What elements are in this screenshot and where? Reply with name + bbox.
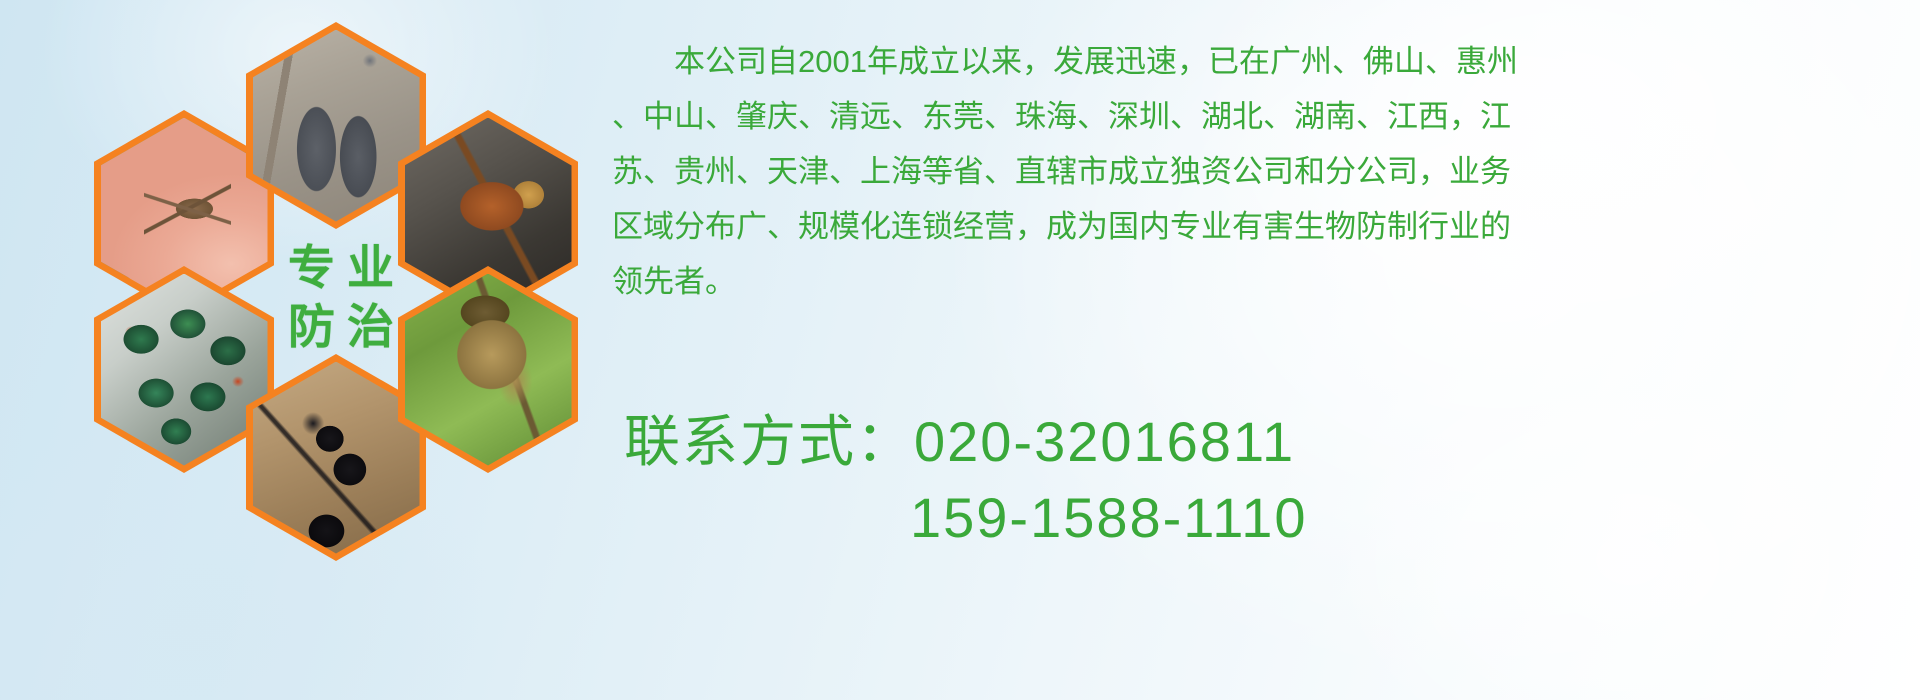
rats-photo — [253, 30, 420, 222]
brand-line-secondary: 防治 — [276, 303, 406, 350]
flies-photo — [101, 274, 268, 466]
company-description: 本公司自2001年成立以来，发展迅速，已在广州、佛山、惠州 、中山、肇庆、清远、… — [612, 34, 1908, 309]
hex-photo-rats — [253, 30, 420, 222]
contact-mobile[interactable]: 159-1588-1110 — [624, 480, 1914, 556]
description-line-1: 本公司自2001年成立以来，发展迅速，已在广州、佛山、惠州 — [612, 34, 1908, 89]
hex-photo-flies — [101, 274, 268, 466]
brand-line-primary: 专业 — [276, 244, 406, 291]
honeycomb-collage: 专业 防治 — [80, 0, 600, 580]
description-line-3: 苏、贵州、天津、上海等省、直辖市成立独资公司和分公司，业务 — [612, 144, 1908, 199]
description-line-5: 领先者。 — [612, 254, 1908, 309]
description-line-4: 区域分布广、规模化连锁经营，成为国内专业有害生物防制行业的 — [612, 199, 1908, 254]
promo-banner: 专业 防治 本公司自2001年成立以来，发展迅速，已在广州、佛山、惠州 、中山、… — [0, 0, 1920, 700]
contact-block: 联系方式：020-32016811 159-1588-1110 — [624, 404, 1914, 556]
contact-landline[interactable]: 联系方式：020-32016811 — [624, 404, 1914, 480]
description-line-2: 、中山、肇庆、清远、东莞、珠海、深圳、湖北、湖南、江西，江 — [612, 89, 1908, 144]
